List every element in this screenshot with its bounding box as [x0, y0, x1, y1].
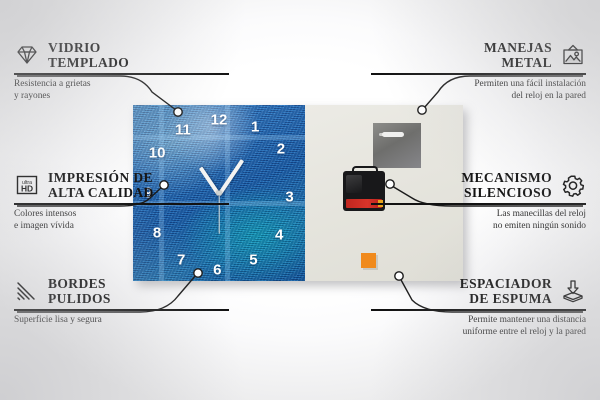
feature-header: VIDRIO TEMPLADO: [14, 40, 229, 73]
diagonal-stripes-icon: [14, 279, 40, 303]
clock-numeral-5: 5: [249, 252, 257, 267]
feature-title: VIDRIO TEMPLADO: [48, 40, 129, 70]
feature-description: Colores intensos e imagen vívida: [14, 205, 229, 232]
metal-hanger-plate: [373, 123, 421, 168]
feature-header: ultra HD IMPRESIÓN DE ALTA CALIDAD: [14, 170, 229, 203]
gear-icon: [560, 173, 586, 197]
clock-numeral-4: 4: [275, 228, 283, 243]
feature-desc-line1: Superficie lisa y segura: [14, 315, 102, 325]
feature-desc-line1: Colores intensos: [14, 209, 76, 219]
clock-numeral-10: 10: [149, 145, 166, 160]
feature-desc-line2: y rayones: [14, 91, 50, 101]
arrow-on-foam-icon: [560, 279, 586, 303]
feature-title-line2: DE ESPUMA: [469, 291, 552, 306]
feature-header: BORDES PULIDOS: [14, 276, 229, 309]
feature-desc-line1: Resistencia a grietas: [14, 79, 91, 89]
clock-numeral-2: 2: [277, 142, 285, 157]
feature-desc-line2: uniforme entre el reloj y la pared: [463, 327, 586, 337]
feature-description: Resistencia a grietas y rayones: [14, 75, 229, 102]
feature-impresion-alta-calidad: ultra HD IMPRESIÓN DE ALTA CALIDAD Color…: [14, 170, 229, 232]
foam-spacer: [361, 253, 376, 268]
feature-manejas-metal: MANEJAS METAL Permiten una fácil instala…: [371, 40, 586, 102]
feature-header: MECANISMO SILENCIOSO: [371, 170, 586, 203]
clock-numeral-12: 12: [211, 113, 228, 128]
diamond-icon: [14, 43, 40, 67]
feature-desc-line1: Permite mantener una distancia: [468, 315, 586, 325]
svg-text:HD: HD: [21, 184, 33, 194]
feature-desc-line2: no emiten ningún sonido: [493, 221, 586, 231]
feature-desc-line1: Las manecillas del reloj: [497, 209, 586, 219]
feature-title-line2: PULIDOS: [48, 291, 111, 306]
feature-title-line1: MANEJAS: [484, 40, 552, 55]
feature-title: BORDES PULIDOS: [48, 276, 111, 306]
feature-title-line1: VIDRIO: [48, 40, 101, 55]
feature-title: MECANISMO SILENCIOSO: [461, 170, 552, 200]
clock-numeral-1: 1: [251, 120, 259, 135]
clock-numeral-11: 11: [175, 122, 191, 137]
feature-vidrio-templado: VIDRIO TEMPLADO Resistencia a grietas y …: [14, 40, 229, 102]
feature-title: IMPRESIÓN DE ALTA CALIDAD: [48, 170, 154, 200]
clock-numeral-3: 3: [285, 189, 293, 204]
feature-desc-line2: del reloj en la pared: [512, 91, 586, 101]
feature-bordes-pulidos: BORDES PULIDOS Superficie lisa y segura: [14, 276, 229, 326]
feature-desc-line1: Permiten una fácil instalación: [474, 79, 586, 89]
feature-description: Superficie lisa y segura: [14, 311, 229, 326]
feature-title-line1: ESPACIADOR: [460, 276, 552, 291]
feature-mecanismo-silencioso: MECANISMO SILENCIOSO Las manecillas del …: [371, 170, 586, 232]
feature-description: Las manecillas del reloj no emiten ningú…: [371, 205, 586, 232]
feature-title: MANEJAS METAL: [484, 40, 552, 70]
feature-header: MANEJAS METAL: [371, 40, 586, 73]
feature-title-line1: IMPRESIÓN DE: [48, 170, 153, 185]
ultra-hd-icon: ultra HD: [14, 173, 40, 197]
feature-title-line2: ALTA CALIDAD: [48, 185, 154, 200]
mechanism-highlight: [346, 175, 362, 193]
feature-description: Permite mantener una distancia uniforme …: [371, 311, 586, 338]
feature-title-line1: MECANISMO: [461, 170, 552, 185]
hanging-frame-icon: [560, 43, 586, 67]
feature-title-line2: TEMPLADO: [48, 55, 129, 70]
feature-title-line2: METAL: [501, 55, 552, 70]
infographic-canvas: 12 1 2 3 4 5 6 7 8 9 10 11: [0, 0, 600, 400]
feature-title-line2: SILENCIOSO: [464, 185, 552, 200]
hanger-slot: [382, 132, 404, 137]
feature-title-line1: BORDES: [48, 276, 106, 291]
feature-title: ESPACIADOR DE ESPUMA: [460, 276, 552, 306]
feature-header: ESPACIADOR DE ESPUMA: [371, 276, 586, 309]
clock-numeral-7: 7: [177, 252, 185, 267]
feature-desc-line2: e imagen vívida: [14, 221, 74, 231]
feature-description: Permiten una fácil instalación del reloj…: [371, 75, 586, 102]
feature-espaciador-de-espuma: ESPACIADOR DE ESPUMA Permite mantener un…: [371, 276, 586, 338]
